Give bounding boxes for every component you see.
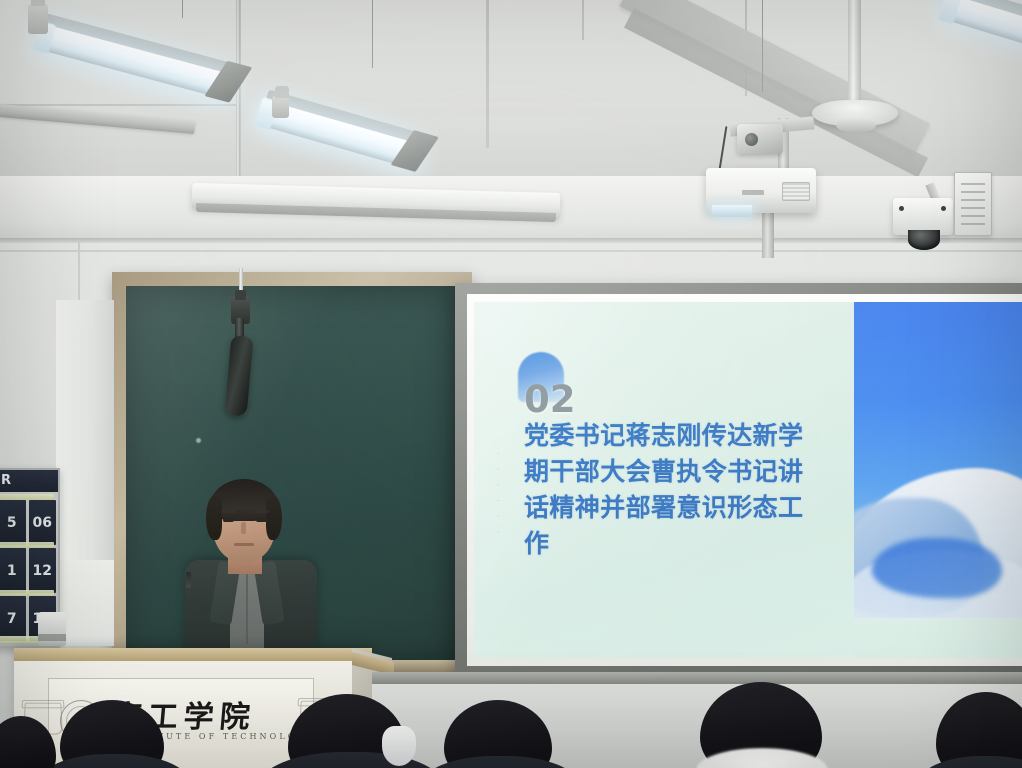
wall-seam bbox=[0, 250, 1022, 252]
container-on-shelf bbox=[38, 612, 66, 646]
wall-control-panel bbox=[954, 172, 992, 236]
suspension-wire bbox=[372, 0, 373, 68]
speaker-mouth bbox=[234, 543, 254, 546]
speaker-lapel-microphone bbox=[186, 572, 191, 588]
speaker-eyebrow bbox=[221, 510, 236, 513]
locker-cell[interactable]: 5 bbox=[0, 500, 26, 545]
blackboard-chalk-mark bbox=[196, 438, 201, 443]
wall-seam bbox=[78, 242, 80, 304]
locker-cell[interactable]: 06 bbox=[29, 500, 57, 545]
speaker-eyebrow bbox=[254, 510, 269, 513]
speaker-hair-side bbox=[266, 496, 282, 540]
ceiling-panel-seam bbox=[582, 0, 584, 40]
classroom-photo: 02 党委书记蒋志刚传达新学期干部大会曹执令书记讲话精神并部署意识形态工作 · … bbox=[0, 0, 1022, 768]
projector-lens bbox=[712, 205, 752, 217]
soffit-edge bbox=[0, 238, 1022, 243]
slide-section-number: 02 bbox=[524, 378, 576, 421]
podium-top-edge bbox=[14, 648, 372, 661]
desk-ledge bbox=[372, 672, 1022, 684]
ceiling-panel-seam bbox=[486, 0, 489, 148]
ceiling-fan-hub bbox=[836, 118, 876, 132]
speaker-eye bbox=[256, 518, 267, 522]
projector-mount-head bbox=[737, 124, 783, 154]
suspension-wire bbox=[182, 0, 183, 18]
camera-dome-icon bbox=[908, 230, 940, 250]
speaker-eye bbox=[223, 518, 234, 522]
locker-header-label: R bbox=[0, 470, 58, 492]
slide-title: 党委书记蒋志刚传达新学期干部大会曹执令书记讲话精神并部署意识形态工作 bbox=[524, 418, 824, 562]
suspension-wire bbox=[762, 0, 763, 92]
light-mount bbox=[272, 96, 289, 118]
ceiling-panel-seam bbox=[0, 104, 238, 106]
speaker-hair-side bbox=[206, 496, 222, 540]
audience-face-mask bbox=[382, 726, 416, 766]
ceiling-fan-rod bbox=[848, 0, 861, 108]
projector-post bbox=[762, 212, 774, 258]
speaker-nose bbox=[241, 522, 246, 534]
locker-cell[interactable]: 12 bbox=[29, 548, 57, 593]
projector-vent bbox=[782, 182, 810, 201]
projector-brand-label bbox=[742, 190, 764, 195]
speaker-shirt-seam bbox=[246, 572, 248, 644]
slide-watermark: · · · · · · bbox=[486, 452, 502, 612]
light-mount bbox=[28, 4, 48, 34]
locker-row: 1 12 bbox=[0, 548, 58, 593]
locker-row: 5 06 bbox=[0, 500, 58, 545]
locker-cell[interactable]: 7 bbox=[0, 596, 26, 641]
locker-cell[interactable]: 1 bbox=[0, 548, 26, 593]
